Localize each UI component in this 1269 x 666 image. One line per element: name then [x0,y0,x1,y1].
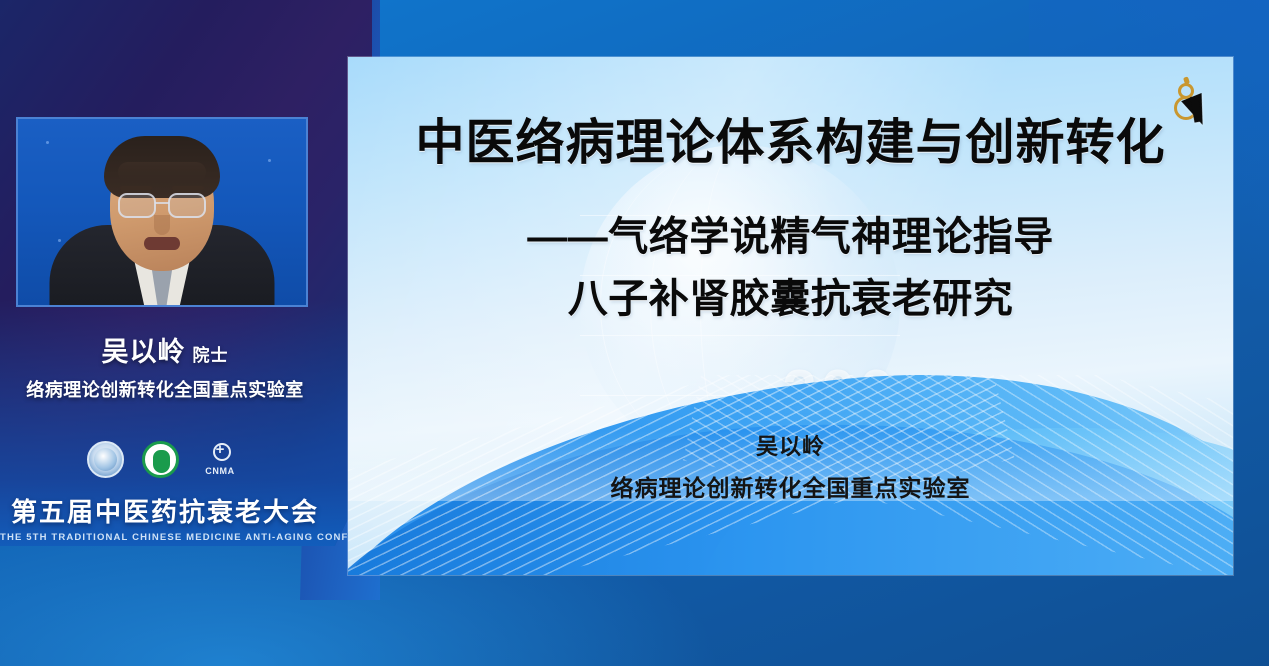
conference-title-cn: 第五届中医药抗衰老大会 [0,492,330,529]
organizer-logo-row: CNMA [0,440,330,478]
slide-title: 中医络病理论体系构建与创新转化 [348,103,1233,174]
slide-subtitle-line-1: ——气络学说精气神理论指导 [348,204,1233,262]
speaker-panel: 吴以岭院士 络病理论创新转化全国重点实验室 CNMA 第五届中医药抗衰老大会 T… [0,0,330,666]
organizer-seal-logo [87,441,124,478]
speaker-identity: 吴以岭院士 络病理论创新转化全国重点实验室 [0,330,330,402]
conference-branding: 第五届中医药抗衰老大会 THE 5TH TRADITIONAL CHINESE … [0,492,330,543]
speaker-honorific: 院士 [193,346,229,365]
speaker-name-line: 吴以岭院士 [0,330,330,369]
cnma-logo-text: CNMA [205,466,234,476]
speaker-nose [154,215,170,235]
video-speck [46,141,49,144]
video-speck [268,159,271,162]
speaker-eyebrow-left [120,186,152,190]
screen-root: 吴以岭院士 络病理论创新转化全国重点实验室 CNMA 第五届中医药抗衰老大会 T… [0,0,1269,666]
eyeglasses-bridge-icon [155,202,169,204]
speaker-video-thumbnail[interactable] [16,117,308,307]
slide-author-affiliation: 络病理论创新转化全国重点实验室 [348,469,1233,503]
eyeglasses-left-lens-icon [118,193,156,218]
slide-subtitle-line-2: 八子补肾胶囊抗衰老研究 [348,266,1233,324]
speaker-eyebrow-right [172,186,204,190]
speaker-affiliation: 络病理论创新转化全国重点实验室 [0,376,330,402]
seal-icon [87,441,124,478]
slide-author: 吴以岭 [348,429,1233,461]
cnma-logo: CNMA [197,440,243,478]
presentation-slide[interactable]: 200 中医络病理论体系构建与创新转化 ——气络学说精气神理论指导 八子补肾胶囊… [348,57,1233,575]
conference-title-en: THE 5TH TRADITIONAL CHINESE MEDICINE ANT… [0,532,330,543]
speaker-name: 吴以岭 [102,337,186,367]
video-speck [58,239,61,242]
speaker-mouth [144,237,180,250]
cnma-cross-icon [208,443,232,465]
green-emblem-icon [142,441,179,478]
green-emblem-logo [142,441,179,478]
eyeglasses-right-lens-icon [168,193,206,218]
